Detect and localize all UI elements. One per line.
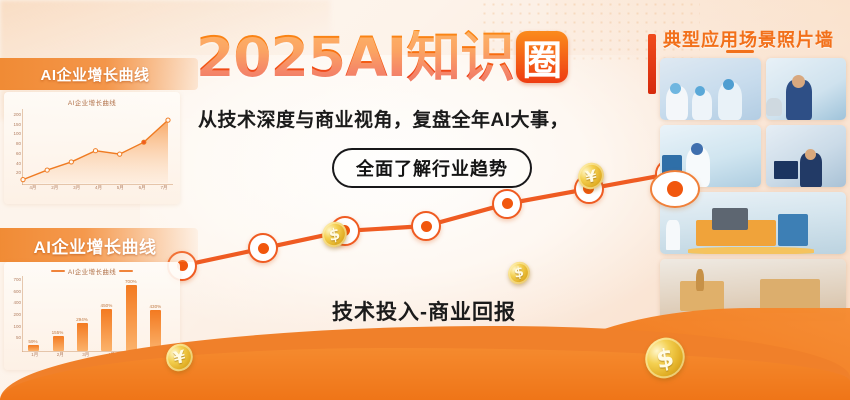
mini-bar-ytick: 50 (16, 335, 21, 340)
left-label-top: AI企业增长曲线 (0, 58, 198, 90)
mini-line-chart-card: AI企业增长曲线 20406080100150200 4月2月3月4月5月6月7… (4, 92, 180, 204)
left-label-bottom: AI企业增长曲线 (0, 228, 198, 262)
mini-bar-label-6: 430% (149, 304, 161, 309)
page-title: 2025AI知识 (196, 30, 514, 85)
mini-bar-label-1: 59% (28, 339, 37, 344)
title-badge-char: 圈 (516, 31, 568, 83)
mini-bar-5 (126, 285, 137, 351)
main-chart-node-5 (492, 189, 522, 219)
mini-bar-ytick: 100 (13, 324, 21, 329)
mini-bar-legend-label: AI企业增长曲线 (68, 266, 116, 276)
mini-line-xtick: 4月 (29, 185, 36, 194)
photo-lab-technician[interactable] (766, 58, 846, 120)
mini-bar-2 (53, 336, 64, 351)
main-growth-line-chart (160, 150, 690, 310)
mini-bar-label-5: 700% (125, 279, 137, 284)
mini-bar-ytick: 700 (13, 277, 21, 282)
mini-line-dot-5 (118, 152, 122, 156)
mini-bar-4 (101, 309, 112, 352)
mini-line-chart-title: AI企业增长曲线 (9, 97, 175, 107)
mini-bar-ytick: 600 (13, 289, 21, 294)
subtitle: 从技术深度与商业视角，复盘全年AI大事， (198, 105, 668, 132)
main-chart-node-4 (411, 211, 441, 241)
photo-doctors-meeting[interactable] (660, 58, 761, 120)
mini-line-dot-1 (21, 178, 25, 182)
mini-line-xtick: 6月 (139, 185, 146, 194)
mini-line-xtick: 3月 (73, 185, 80, 194)
mini-bar-3 (77, 323, 88, 351)
mini-line-dot-2 (45, 168, 49, 172)
main-chart-node-2 (248, 233, 278, 263)
mini-line-dot-3 (69, 160, 73, 164)
title-row: 2025AI知识 圈 (196, 26, 666, 88)
mini-bar-plot: 50100200400600700 59%155%294%450%700%430… (9, 276, 175, 352)
mini-line-x-axis: 4月2月3月4月5月6月7月 (22, 185, 175, 194)
photo-wall-underline (726, 50, 754, 53)
legend-dash-icon-2 (119, 270, 133, 272)
mini-bar-1 (28, 345, 39, 351)
mini-bar-series: 59%155%294%450%700%430% (22, 276, 173, 352)
mini-bar-legend: AI企业增长曲线 (9, 266, 175, 276)
orange-circle-badge (650, 170, 700, 208)
mini-bar-y-axis: 50100200400600700 (9, 276, 22, 352)
mini-line-xtick: 7月 (160, 185, 167, 194)
chart-caption: 技术投入-商业回报 (332, 296, 516, 326)
mini-line-svg (9, 109, 172, 185)
mini-line-xtick: 4月 (95, 185, 102, 194)
promo-banner: 2025AI知识 圈 从技术深度与商业视角，复盘全年AI大事， 全面了解行业趋势… (0, 0, 850, 400)
mini-line-xtick: 5月 (117, 185, 124, 194)
mini-bar-label-3: 294% (76, 317, 88, 322)
mini-bar-xtick: 2月 (57, 352, 64, 361)
mini-bar-xtick: 1月 (31, 352, 38, 361)
mini-bar-label-4: 450% (101, 303, 113, 308)
mini-line-dot-7 (166, 118, 170, 122)
mini-line-xtick: 2月 (51, 185, 58, 194)
mini-line-plot: 20406080100150200 4月2月3月4月5月6月7月 (9, 109, 175, 185)
mini-bar-label-2: 155% (52, 330, 64, 335)
red-accent-tab (648, 34, 656, 94)
mini-line-dot-4 (93, 149, 97, 153)
mini-bar-ytick: 400 (13, 300, 21, 305)
photo-wall-heading: 典型应用场景照片墙 (663, 26, 834, 52)
legend-dash-icon (51, 270, 65, 272)
photo-office-workstation[interactable] (766, 125, 846, 187)
mini-bar-ytick: 200 (13, 312, 21, 317)
mini-line-dot-6 (142, 140, 146, 144)
